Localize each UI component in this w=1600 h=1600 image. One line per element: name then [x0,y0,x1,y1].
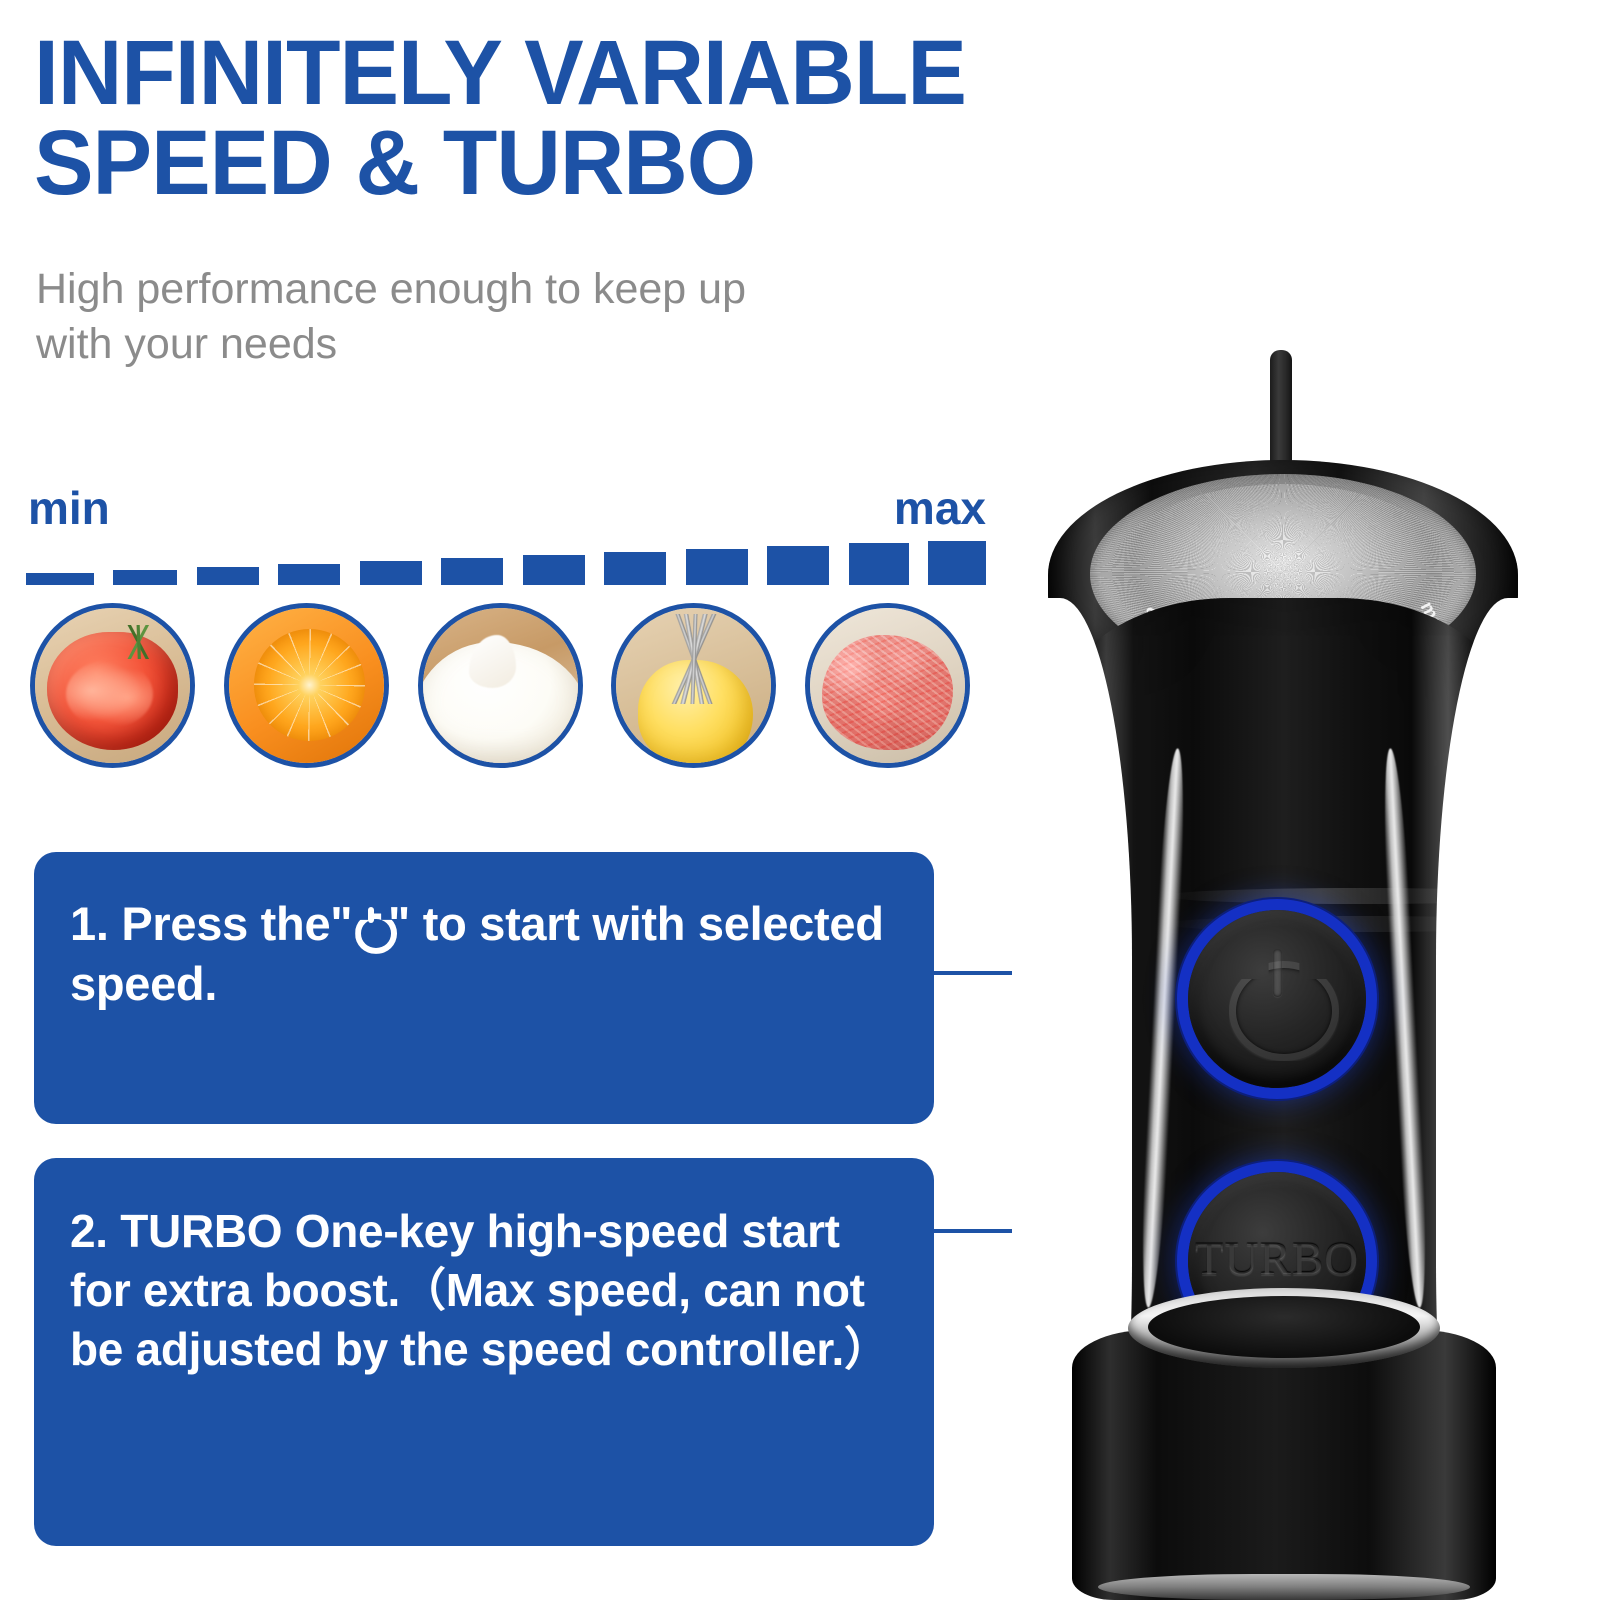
speed-bar-7 [523,555,585,585]
speed-bar-6 [441,558,503,585]
callout-1-text: 1. Press the"" to start with selected sp… [34,852,934,1014]
callout-box-2: 2. TURBO One-key high-speed start for ex… [34,1158,934,1546]
callout-box-1: 1. Press the"" to start with selected sp… [34,852,934,1124]
food-application-row [30,600,970,770]
whisk-icon [657,614,731,704]
turbo-button-label: TURBO [1188,1232,1366,1286]
callout-2-number: 2. [70,1205,108,1257]
speed-scale-min-label: min [28,485,110,531]
food-circle-orange [224,603,389,768]
whipped-cream-image [423,608,578,763]
food-circle-whisk-batter [611,603,776,768]
base-chrome-trim [1098,1574,1470,1600]
speed-scale-max-label: max [894,485,986,531]
speed-bar-10 [767,546,829,585]
power-button[interactable] [1188,910,1366,1088]
page-subtitle: High performance enough to keep up with … [36,262,936,372]
speed-bar-3 [197,567,259,585]
chrome-accent-left [1137,748,1188,1308]
whisk-batter-image [616,608,771,763]
hand-blender-product-image: min max TURBO [980,350,1600,1600]
speed-bar-1 [26,573,94,585]
food-circle-ground-meat [805,603,970,768]
page-title-line-2: SPEED & TURBO [34,118,1179,208]
page-subtitle-line-1: High performance enough to keep up [36,262,936,317]
speed-bar-12 [928,541,986,585]
speed-bar-4 [278,564,340,585]
speed-bar-11 [849,543,909,585]
speed-bar-8 [604,552,666,585]
ground-meat-image [810,608,965,763]
power-icon [353,908,387,942]
page-title-line-1: INFINITELY VARIABLE [34,28,1179,118]
speed-scale-bars [26,541,986,585]
power-icon [1229,951,1325,1047]
tomato-stem-icon [113,625,166,659]
tomato-image [35,608,190,763]
callout-1-text-before: Press the" [109,897,353,950]
food-circle-tomato [30,603,195,768]
speed-bar-5 [360,561,422,585]
speed-scale: min max [26,485,986,585]
callout-2-body: TURBO One-key high-speed start for extra… [70,1205,890,1375]
speed-bar-9 [686,549,748,585]
blender-bottom-housing [1072,1330,1496,1600]
callout-2-text: 2. TURBO One-key high-speed start for ex… [34,1158,934,1379]
food-circle-whipped-cream [418,603,583,768]
attachment-socket [1148,1296,1420,1358]
chrome-accent-right [1379,748,1430,1308]
speed-bar-2 [113,570,177,585]
page-subtitle-line-2: with your needs [36,317,936,372]
callout-1-number: 1. [70,897,109,950]
orange-image [229,608,384,763]
page-title: INFINITELY VARIABLE SPEED & TURBO [34,28,1179,208]
